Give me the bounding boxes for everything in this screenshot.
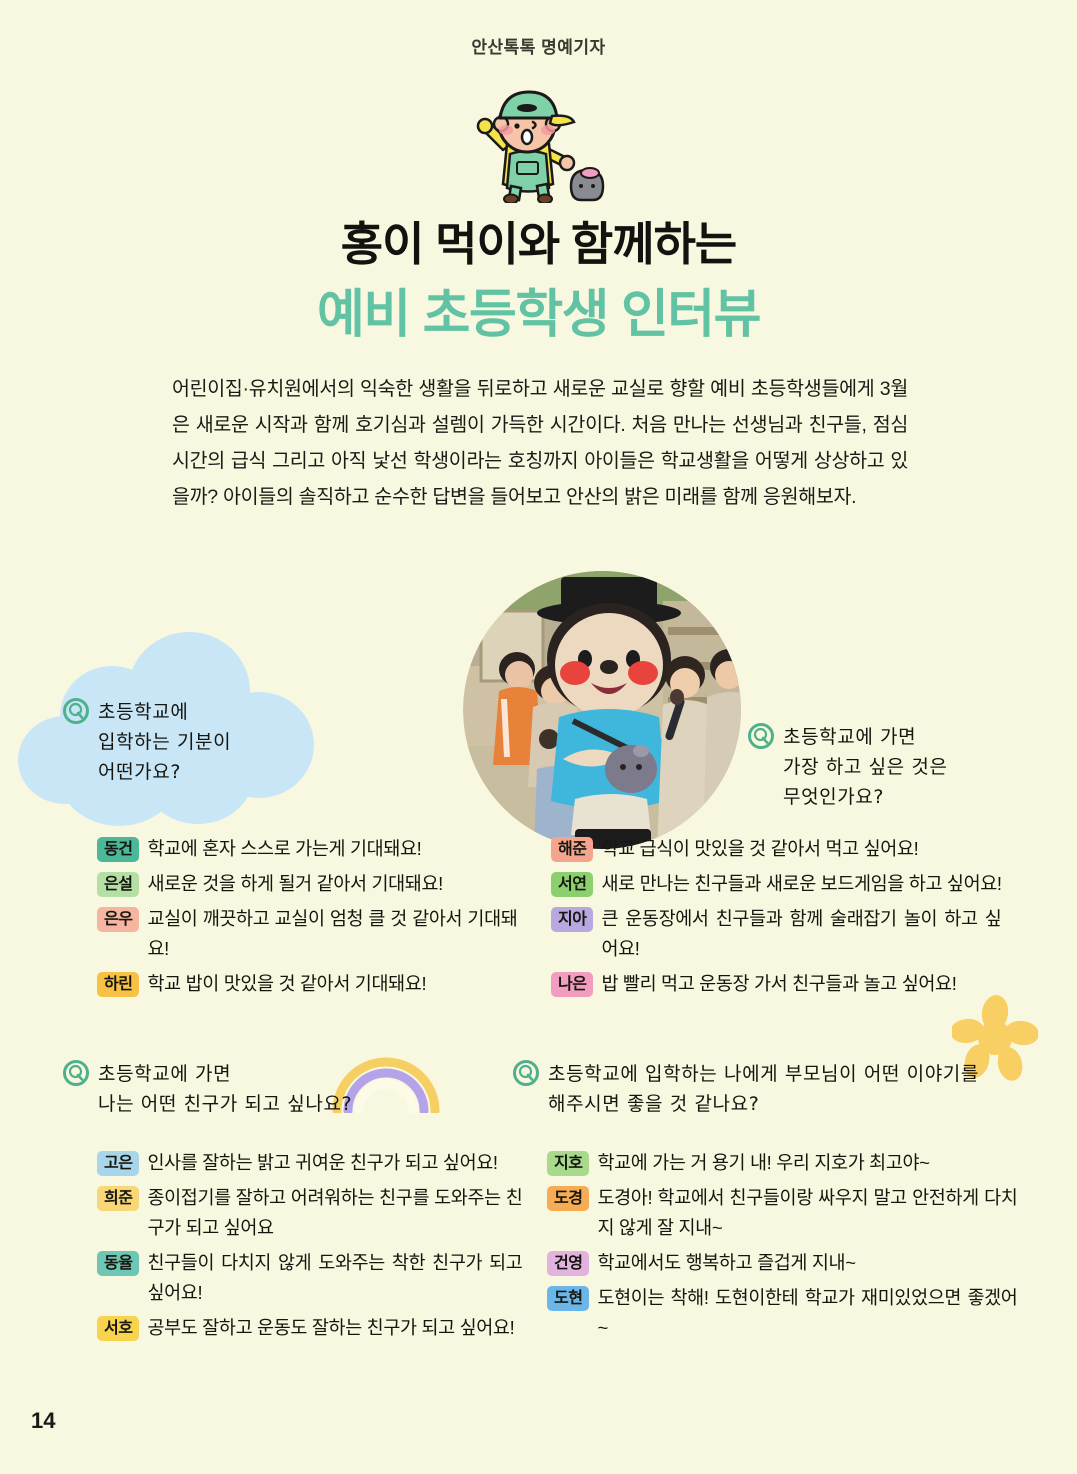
answer-row: 지호 학교에 가는 거 용기 내! 우리 지호가 최고야~: [547, 1148, 1037, 1178]
question-header: 초등학교에 가면 가장 하고 싶은 것은 무엇인가요?: [748, 722, 1048, 812]
headline-line-2: 예비 초등학생 인터뷰: [0, 272, 1077, 347]
answer-row: 동율 친구들이 다치지 않게 도와주는 착한 친구가 되고 싶어요!: [97, 1248, 537, 1308]
intro-text: 어린이집·유치원에서의 익숙한 생활을 뒤로하고 새로운 교실로 향할 예비 초…: [172, 371, 908, 515]
answer-row: 은우 교실이 깨끗하고 교실이 엄청 클 것 같아서 기대돼요!: [97, 904, 537, 964]
question-block-4: 초등학교에 입학하는 나에게 부모님이 어떤 이야기를 해주시면 좋을 것 같나…: [513, 1059, 1043, 1119]
answer-list-2: 해준 학교 급식이 맛있을 것 같아서 먹고 싶어요! 서연 새로 만나는 친구…: [551, 834, 1041, 1004]
answer-row: 서호 공부도 잘하고 운동도 잘하는 친구가 되고 싶어요!: [97, 1313, 537, 1343]
mascot-illustration: [455, 88, 630, 203]
question-block-3: 초등학교에 가면 나는 어떤 친구가 되고 싶나요?: [63, 1059, 483, 1119]
answer-list-1: 동건 학교에 혼자 스스로 가는게 기대돼요! 은설 새로운 것을 하게 될거 …: [97, 834, 537, 1004]
answer-text: 학교 급식이 맛있을 것 같아서 먹고 싶어요!: [601, 834, 918, 864]
answer-name-tag: 동율: [97, 1251, 139, 1276]
answer-name-tag: 은우: [97, 907, 139, 932]
answer-text: 큰 운동장에서 친구들과 함께 술래잡기 놀이 하고 싶어요!: [601, 904, 1001, 964]
question-mark-icon: [513, 1060, 539, 1086]
answer-text: 친구들이 다치지 않게 도와주는 착한 친구가 되고 싶어요!: [147, 1248, 522, 1308]
answer-name-tag: 해준: [551, 837, 593, 862]
magazine-page: 안산톡톡 명예기자: [0, 0, 1077, 1474]
answer-row: 고은 인사를 잘하는 밝고 귀여운 친구가 되고 싶어요!: [97, 1148, 537, 1178]
question-text: 초등학교에 가면 나는 어떤 친구가 되고 싶나요?: [98, 1059, 352, 1119]
answer-row: 동건 학교에 혼자 스스로 가는게 기대돼요!: [97, 834, 537, 864]
answer-text: 새로운 것을 하게 될거 같아서 기대돼요!: [147, 869, 442, 899]
question-text: 초등학교에 입학하는 기분이 어떤가요?: [98, 697, 231, 787]
answer-name-tag: 나은: [551, 972, 593, 997]
answer-row: 지아 큰 운동장에서 친구들과 함께 술래잡기 놀이 하고 싶어요!: [551, 904, 1041, 964]
mascot-photo: [463, 571, 741, 849]
answer-row: 도경 도경아! 학교에서 친구들이랑 싸우지 말고 안전하게 다치지 않게 잘 …: [547, 1183, 1037, 1243]
answer-text: 학교 밥이 맛있을 것 같아서 기대돼요!: [147, 969, 426, 999]
question-text: 초등학교에 가면 가장 하고 싶은 것은 무엇인가요?: [783, 722, 948, 812]
answer-text: 학교에 혼자 스스로 가는게 기대돼요!: [147, 834, 421, 864]
question-block-1: 초등학교에 입학하는 기분이 어떤가요?: [63, 697, 323, 787]
question-mark-icon: [748, 723, 774, 749]
answer-list-3: 고은 인사를 잘하는 밝고 귀여운 친구가 되고 싶어요! 희준 종이접기를 잘…: [97, 1148, 537, 1348]
page-number: 14: [31, 1408, 55, 1434]
answer-name-tag: 서호: [97, 1316, 139, 1341]
answer-row: 해준 학교 급식이 맛있을 것 같아서 먹고 싶어요!: [551, 834, 1041, 864]
answer-name-tag: 고은: [97, 1151, 139, 1176]
answer-row: 희준 종이접기를 잘하고 어려워하는 친구를 도와주는 친구가 되고 싶어요: [97, 1183, 537, 1243]
answer-row: 건영 학교에서도 행복하고 즐겁게 지내~: [547, 1248, 1037, 1278]
headline-line-1: 홍이 먹이와 함께하는: [0, 208, 1077, 274]
answer-name-tag: 도경: [547, 1186, 589, 1211]
answer-name-tag: 건영: [547, 1251, 589, 1276]
answer-name-tag: 동건: [97, 837, 139, 862]
question-mark-icon: [63, 698, 89, 724]
intro-paragraph: 어린이집·유치원에서의 익숙한 생활을 뒤로하고 새로운 교실로 향할 예비 초…: [172, 371, 908, 515]
answer-name-tag: 지아: [551, 907, 593, 932]
answer-text: 도현이는 착해! 도현이한테 학교가 재미있었으면 좋겠어~: [597, 1283, 1017, 1343]
answer-name-tag: 도현: [547, 1286, 589, 1311]
answer-text: 새로 만나는 친구들과 새로운 보드게임을 하고 싶어요!: [601, 869, 1001, 899]
answer-text: 공부도 잘하고 운동도 잘하는 친구가 되고 싶어요!: [147, 1313, 522, 1343]
answer-text: 종이접기를 잘하고 어려워하는 친구를 도와주는 친구가 되고 싶어요: [147, 1183, 522, 1243]
answer-name-tag: 은설: [97, 872, 139, 897]
page-kicker: 안산톡톡 명예기자: [0, 33, 1077, 58]
question-header: 초등학교에 가면 나는 어떤 친구가 되고 싶나요?: [63, 1059, 483, 1119]
answer-text: 밥 빨리 먹고 운동장 가서 친구들과 놀고 싶어요!: [601, 969, 956, 999]
answer-text: 학교에 가는 거 용기 내! 우리 지호가 최고야~: [597, 1148, 929, 1178]
answer-name-tag: 하린: [97, 972, 139, 997]
answer-row: 하린 학교 밥이 맛있을 것 같아서 기대돼요!: [97, 969, 537, 999]
answer-name-tag: 지호: [547, 1151, 589, 1176]
question-header: 초등학교에 입학하는 기분이 어떤가요?: [63, 697, 323, 787]
question-mark-icon: [63, 1060, 89, 1086]
answer-list-4: 지호 학교에 가는 거 용기 내! 우리 지호가 최고야~ 도경 도경아! 학교…: [547, 1148, 1037, 1348]
answer-row: 서연 새로 만나는 친구들과 새로운 보드게임을 하고 싶어요!: [551, 869, 1041, 899]
question-block-2: 초등학교에 가면 가장 하고 싶은 것은 무엇인가요?: [748, 722, 1048, 812]
answer-text: 학교에서도 행복하고 즐겁게 지내~: [597, 1248, 855, 1278]
answer-row: 나은 밥 빨리 먹고 운동장 가서 친구들과 놀고 싶어요!: [551, 969, 1041, 999]
answer-name-tag: 희준: [97, 1186, 139, 1211]
answer-row: 도현 도현이는 착해! 도현이한테 학교가 재미있었으면 좋겠어~: [547, 1283, 1037, 1343]
answer-text: 인사를 잘하는 밝고 귀여운 친구가 되고 싶어요!: [147, 1148, 497, 1178]
answer-name-tag: 서연: [551, 872, 593, 897]
question-text: 초등학교에 입학하는 나에게 부모님이 어떤 이야기를 해주시면 좋을 것 같나…: [548, 1059, 979, 1119]
answer-row: 은설 새로운 것을 하게 될거 같아서 기대돼요!: [97, 869, 537, 899]
answer-text: 도경아! 학교에서 친구들이랑 싸우지 말고 안전하게 다치지 않게 잘 지내~: [597, 1183, 1017, 1243]
answer-text: 교실이 깨끗하고 교실이 엄청 클 것 같아서 기대돼요!: [147, 904, 517, 964]
question-header: 초등학교에 입학하는 나에게 부모님이 어떤 이야기를 해주시면 좋을 것 같나…: [513, 1059, 1043, 1119]
